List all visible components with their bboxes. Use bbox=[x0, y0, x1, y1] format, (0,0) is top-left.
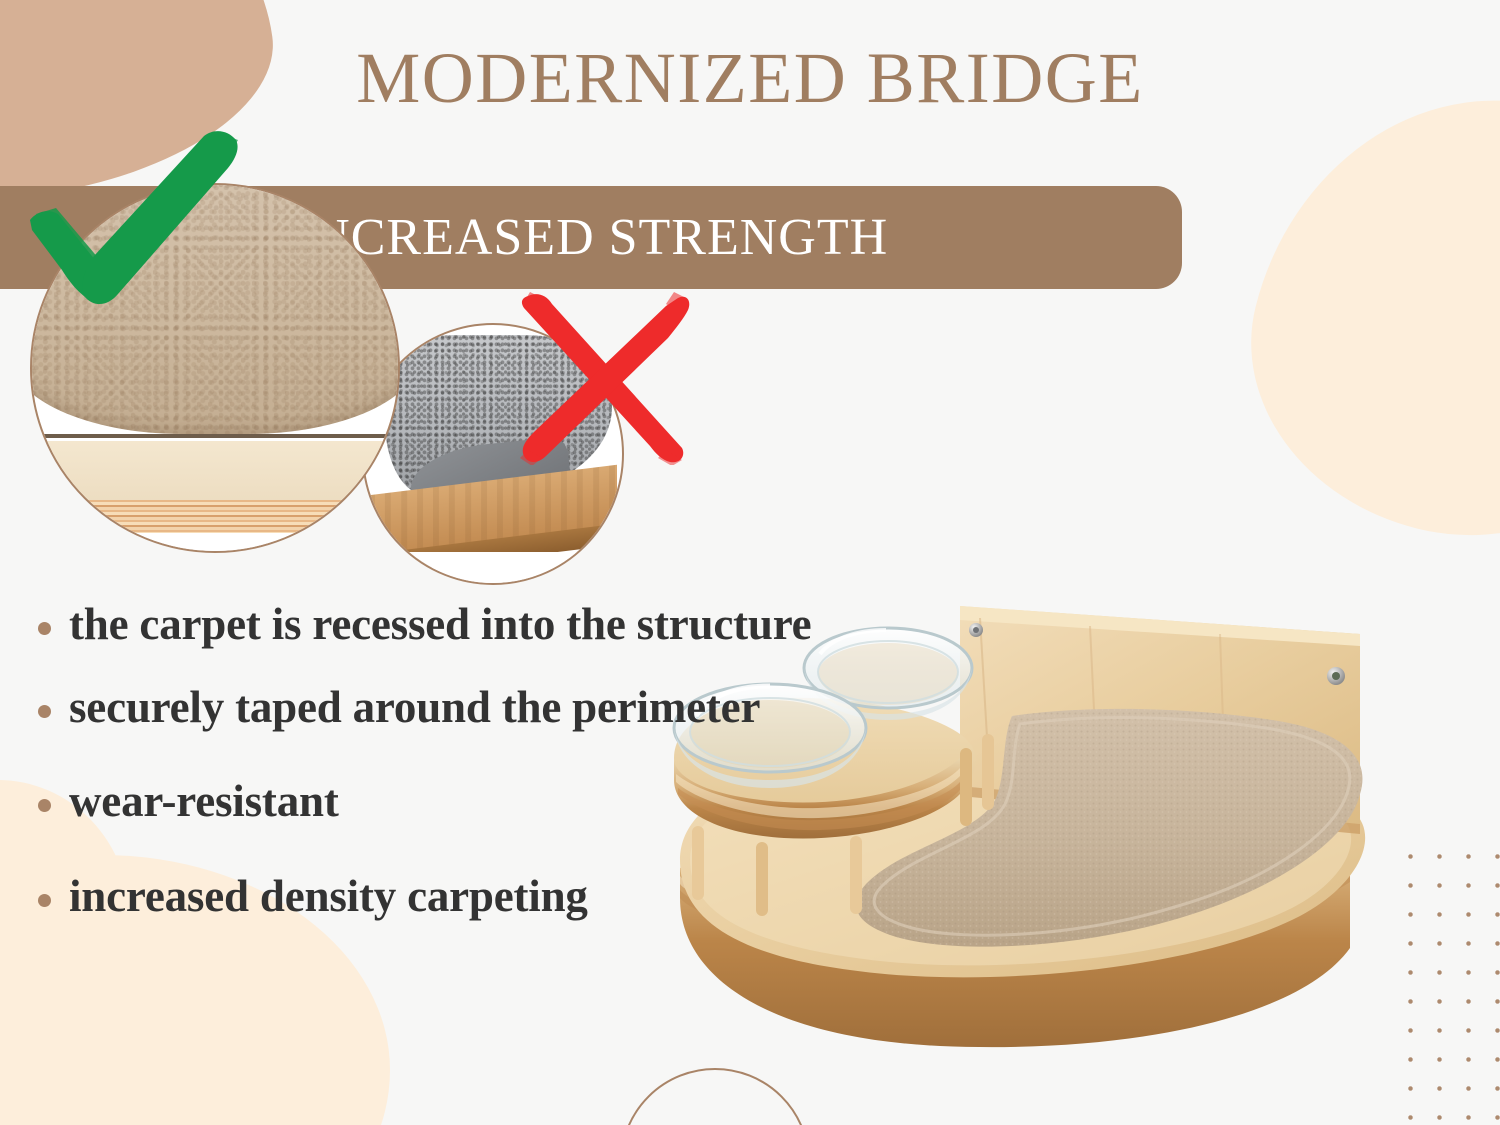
feature-text: wear-resistant bbox=[69, 777, 339, 826]
photo-base-background bbox=[364, 552, 622, 583]
circle-outline-decoration bbox=[620, 1068, 810, 1125]
list-item: wear-resistant bbox=[38, 777, 828, 826]
plywood-laminate-stripes bbox=[32, 500, 398, 533]
bullet-dot-icon bbox=[38, 894, 51, 907]
list-item: increased density carpeting bbox=[38, 872, 828, 921]
bullet-dot-icon bbox=[38, 705, 51, 718]
list-item: securely taped around the perimeter bbox=[38, 683, 828, 732]
stand-leg-3 bbox=[850, 836, 862, 914]
list-item: the carpet is recessed into the structur… bbox=[38, 600, 828, 649]
page-title: MODERNIZED BRIDGE bbox=[0, 42, 1500, 114]
stand-leg-5 bbox=[982, 734, 994, 810]
carpet-seam-line bbox=[32, 434, 398, 438]
feature-text: the carpet is recessed into the structur… bbox=[69, 600, 811, 649]
photo-base-background bbox=[32, 533, 398, 551]
stand-leg-4 bbox=[960, 748, 972, 826]
carpet-layer bbox=[30, 183, 400, 434]
bullet-dot-icon bbox=[38, 622, 51, 635]
bad-material-photo bbox=[362, 323, 624, 585]
peach-blob-top-right bbox=[1213, 51, 1500, 580]
plywood-top-layer bbox=[32, 441, 398, 507]
feature-text: increased density carpeting bbox=[69, 872, 588, 921]
good-material-photo bbox=[30, 183, 400, 553]
infographic-canvas: MODERNIZED BRIDGE INCREASED STRENGTH bbox=[0, 0, 1500, 1125]
feature-list: the carpet is recessed into the structur… bbox=[38, 600, 828, 954]
bullet-dot-icon bbox=[38, 799, 51, 812]
feature-text: securely taped around the perimeter bbox=[69, 683, 760, 732]
